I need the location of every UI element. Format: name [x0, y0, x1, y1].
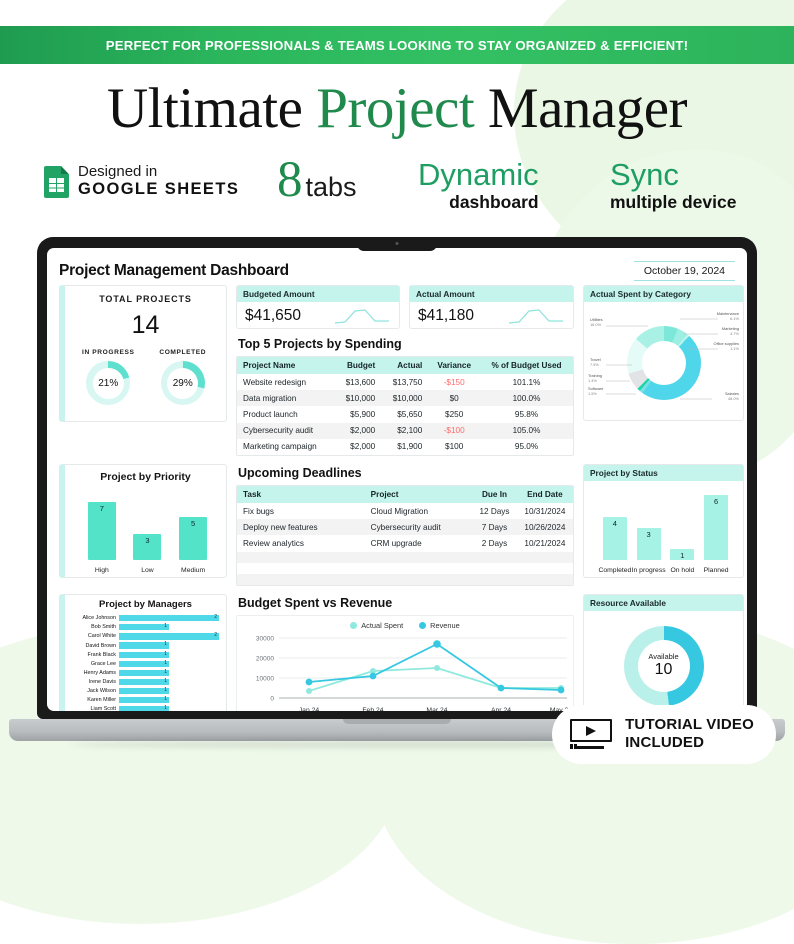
cell-project: Cloud Migration	[365, 503, 473, 519]
feature-tabs-label: tabs	[306, 172, 357, 203]
bar-value: 3	[133, 536, 161, 545]
resource-center: Available 10	[638, 640, 690, 692]
project-by-priority-card: Project by Priority 7 High 3 Lo	[59, 464, 227, 578]
deadlines-title: Upcoming Deadlines	[238, 466, 574, 480]
cell-budget: $2,000	[334, 423, 381, 439]
cell-pct: 100.0%	[480, 390, 573, 406]
tutorial-line-1: TUTORIAL VIDEO	[625, 716, 754, 735]
feature-sheets-line2: GOOGLE SHEETS	[78, 180, 239, 199]
mgr-bar: 1	[119, 706, 169, 711]
cell-end: 10/26/2024	[517, 519, 573, 535]
actual-spent-by-category-card: Actual Spent by Category Utilities16.0% …	[583, 285, 744, 421]
svg-text:10000: 10000	[256, 675, 274, 682]
budget-revenue-title: Budget Spent vs Revenue	[238, 596, 574, 610]
table-row: Cybersecurity audit $2,000 $2,100 -$100 …	[237, 423, 573, 439]
bar-value: 3	[637, 530, 661, 539]
category-chart-header: Actual Spent by Category	[584, 286, 743, 302]
cell-variance: $0	[428, 390, 480, 406]
feature-sync-small: multiple device	[610, 192, 736, 213]
dashboard-col-right-3: Resource Available Available 10	[583, 594, 744, 712]
deadlines-table: Task Project Due In End Date Fix bugs Cl…	[237, 486, 573, 585]
resource-donut-ring: Available 10	[624, 626, 704, 706]
resource-donut-chart: Available 10	[584, 611, 743, 712]
top-projects-table-wrap: Project Name Budget Actual Variance % of…	[236, 356, 574, 456]
list-item: Irene Davis1	[71, 678, 220, 686]
svg-text:30000: 30000	[256, 635, 274, 642]
feature-google-sheets: Designed in GOOGLE SHEETS	[44, 163, 239, 199]
table-row: Product launch $5,900 $5,650 $250 95.8%	[237, 406, 573, 422]
cell-project: Cybersecurity audit	[237, 423, 334, 439]
promo-banner: PERFECT FOR PROFESSIONALS & TEAMS LOOKIN…	[0, 26, 794, 64]
cell-end: 10/31/2024	[517, 503, 573, 519]
dashboard-col-left-2: Project by Priority 7 High 3 Lo	[59, 464, 227, 586]
cell-project: Website redesign	[237, 374, 334, 390]
play-video-icon	[570, 719, 612, 749]
top-projects-table: Project Name Budget Actual Variance % of…	[237, 357, 573, 455]
col-budget-used: % of Budget Used	[480, 357, 573, 374]
project-by-managers-card: Project by Managers Alice Johnson2 Bob S…	[59, 594, 227, 712]
deadlines-body: Fix bugs Cloud Migration 12 Days 10/31/2…	[237, 503, 573, 585]
bar-label: High	[78, 567, 126, 574]
total-projects-card: TOTAL PROJECTS 14 IN PROGRESS 21%	[59, 285, 227, 422]
dashboard-row-3: Project by Managers Alice Johnson2 Bob S…	[59, 594, 735, 712]
tutorial-video-badge: TUTORIAL VIDEO INCLUDED	[552, 705, 776, 765]
dashboard-col-right-1: Actual Spent by Category Utilities16.0% …	[583, 285, 744, 456]
table-row: Deploy new features Cybersecurity audit …	[237, 519, 573, 535]
mgr-bar: 1	[119, 661, 169, 667]
cell-budget: $2,000	[334, 439, 381, 455]
table-row: Marketing campaign $2,000 $1,900 $100 95…	[237, 439, 573, 455]
cell-budget: $13,600	[334, 374, 381, 390]
cell-project: Data migration	[237, 390, 334, 406]
dashboard-col-mid-3: Budget Spent vs Revenue Actual Spent Rev…	[236, 594, 574, 712]
cell-variance: -$100	[428, 423, 480, 439]
bar-on-hold: 1 On hold	[670, 549, 694, 560]
cell-pct: 101.1%	[480, 374, 573, 390]
feature-tabs-number: 8	[277, 155, 303, 206]
list-item: Bob Smith1	[71, 624, 220, 632]
mgr-bar: 1	[119, 688, 169, 694]
cell-end: 10/21/2024	[517, 535, 573, 551]
cell-actual: $5,650	[381, 406, 428, 422]
table-row: Fix bugs Cloud Migration 12 Days 10/31/2…	[237, 503, 573, 519]
cell-pct: 95.0%	[480, 439, 573, 455]
mgr-bar: 1	[119, 624, 169, 630]
bar-label: Low	[123, 567, 171, 574]
mgr-bar: 1	[119, 642, 169, 648]
cell-actual: $2,100	[381, 423, 428, 439]
status-bar-chart: 4 Completed 3 In progress 1	[584, 481, 743, 577]
in-progress-metric: IN PROGRESS 21%	[77, 349, 139, 405]
bar-value: 6	[704, 497, 728, 506]
completed-metric: COMPLETED 29%	[152, 349, 214, 405]
table-row: Review analytics CRM upgrade 2 Days 10/2…	[237, 535, 573, 551]
col-due-in: Due In	[472, 486, 517, 503]
legend-swatch	[350, 622, 357, 629]
hero-word-3: Manager	[474, 77, 687, 140]
kpi-budgeted-amount: Budgeted Amount $41,650	[236, 285, 400, 329]
dashboard-col-left-3: Project by Managers Alice Johnson2 Bob S…	[59, 594, 227, 712]
google-sheets-icon	[44, 166, 69, 198]
dashboard-col-right-2: Project by Status 4 Completed 3	[583, 464, 744, 586]
bar-label: Planned	[694, 567, 738, 574]
hero-heading: Ultimate Project Manager	[0, 72, 794, 144]
status-chart-header: Project by Status	[584, 465, 743, 481]
total-projects-label: TOTAL PROJECTS	[71, 294, 220, 304]
promo-banner-text: PERFECT FOR PROFESSIONALS & TEAMS LOOKIN…	[106, 38, 688, 53]
dashboard: Project Management Dashboard October 19,…	[47, 248, 747, 711]
cell-actual: $1,900	[381, 439, 428, 455]
completed-value: 29%	[167, 368, 198, 399]
cell-project: Cybersecurity audit	[365, 519, 473, 535]
feature-dynamic-big: Dynamic	[418, 159, 539, 192]
feature-dynamic-small: dashboard	[449, 192, 538, 213]
list-item: Jack Wilson1	[71, 687, 220, 695]
dashboard-header: Project Management Dashboard October 19,…	[59, 257, 735, 285]
dashboard-col-mid-1: Budgeted Amount $41,650 Actual Amount	[236, 285, 574, 456]
feature-sync-big: Sync	[610, 159, 679, 192]
cell-budget: $10,000	[334, 390, 381, 406]
bar-in-progress: 3 In progress	[637, 528, 661, 560]
total-projects-value: 14	[71, 311, 220, 340]
cell-project: CRM upgrade	[365, 535, 473, 551]
svg-text:Jan 24: Jan 24	[299, 707, 320, 712]
resource-header: Resource Available	[584, 595, 743, 611]
dashboard-col-mid-2: Upcoming Deadlines Task Project Due In E…	[236, 464, 574, 586]
table-header-row: Task Project Due In End Date	[237, 486, 573, 503]
mgr-bar: 2	[119, 633, 219, 639]
line-chart-plot: 30000 20000 10000 0 Jan 24 Feb 24 Mar 24	[237, 630, 575, 712]
deadlines-table-wrap: Task Project Due In End Date Fix bugs Cl…	[236, 485, 574, 586]
bar-value: 4	[603, 519, 627, 528]
feature-sheets-line1: Designed in	[78, 163, 239, 180]
page-title: Project Management Dashboard	[59, 262, 289, 280]
kpi-actual-value: $41,180	[418, 307, 474, 325]
kpi-actual-sparkline	[507, 306, 565, 326]
in-progress-label: IN PROGRESS	[77, 349, 139, 356]
kpi-budgeted-sparkline	[333, 306, 391, 326]
col-actual: Actual	[381, 357, 428, 374]
top-projects-body: Website redesign $13,600 $13,750 -$150 1…	[237, 374, 573, 455]
managers-bar-chart: Alice Johnson2 Bob Smith1 Carol White2 D…	[65, 612, 226, 712]
feature-sync: Sync multiple device	[610, 159, 736, 213]
cell-due: 2 Days	[472, 535, 517, 551]
cell-due: 12 Days	[472, 503, 517, 519]
cell-variance: -$150	[428, 374, 480, 390]
bar-value: 1	[670, 551, 694, 560]
kpi-actual-header: Actual Amount	[410, 286, 573, 302]
resource-caption: Available	[648, 652, 678, 661]
legend-revenue: Revenue	[419, 621, 460, 630]
resource-value: 10	[655, 661, 673, 679]
cell-project: Product launch	[237, 406, 334, 422]
svg-text:0: 0	[270, 695, 274, 702]
kpi-budgeted-value: $41,650	[245, 307, 301, 325]
table-row-empty	[237, 563, 573, 574]
table-row: Website redesign $13,600 $13,750 -$150 1…	[237, 374, 573, 390]
svg-text:20000: 20000	[256, 655, 274, 662]
svg-text:Apr 24: Apr 24	[491, 707, 511, 712]
cell-actual: $10,000	[381, 390, 428, 406]
svg-text:Mar 24: Mar 24	[426, 707, 447, 712]
category-leader-lines	[584, 302, 743, 420]
in-progress-gauge: 21%	[86, 361, 130, 405]
col-task: Task	[237, 486, 365, 503]
dashboard-row-2: Project by Priority 7 High 3 Lo	[59, 464, 735, 586]
mgr-bar: 1	[119, 679, 169, 685]
priority-bar-chart: 7 High 3 Low 5 Medium	[65, 485, 226, 577]
col-project: Project	[365, 486, 473, 503]
tutorial-line-2: INCLUDED	[625, 734, 754, 753]
completed-label: COMPLETED	[152, 349, 214, 356]
dashboard-date: October 19, 2024	[634, 261, 735, 281]
legend-actual-spent: Actual Spent	[350, 621, 403, 630]
cell-task: Review analytics	[237, 535, 365, 551]
feature-tabs: 8 tabs	[277, 155, 357, 206]
bar-completed: 4 Completed	[603, 517, 627, 560]
completed-gauge: 29%	[161, 361, 205, 405]
bar-value: 5	[179, 519, 207, 528]
svg-text:Feb 24: Feb 24	[362, 707, 383, 712]
list-item: Henry Adams1	[71, 669, 220, 677]
cell-due: 7 Days	[472, 519, 517, 535]
dashboard-col-left-1: TOTAL PROJECTS 14 IN PROGRESS 21%	[59, 285, 227, 456]
bar-label: Medium	[169, 567, 217, 574]
mgr-bar: 2	[119, 615, 219, 621]
feature-row: Designed in GOOGLE SHEETS 8 tabs Dynamic…	[0, 155, 794, 225]
bar-planned: 6 Planned	[704, 495, 728, 560]
top-projects-title: Top 5 Projects by Spending	[238, 337, 574, 351]
budget-vs-revenue-chart: Actual Spent Revenue	[236, 615, 574, 712]
bar-high: 7 High	[88, 502, 116, 560]
hero-word-2: Project	[316, 77, 474, 140]
dashboard-row-1: TOTAL PROJECTS 14 IN PROGRESS 21%	[59, 285, 735, 456]
table-row-empty	[237, 552, 573, 563]
list-item: Carol White2	[71, 633, 220, 641]
cell-budget: $5,900	[334, 406, 381, 422]
bar-value: 7	[88, 504, 116, 513]
project-by-status-card: Project by Status 4 Completed 3	[583, 464, 744, 578]
line-chart-legend: Actual Spent Revenue	[237, 616, 573, 630]
col-end-date: End Date	[517, 486, 573, 503]
cell-pct: 95.8%	[480, 406, 573, 422]
mgr-bar: 1	[119, 697, 169, 703]
list-item: David Brown1	[71, 642, 220, 650]
laptop-mockup: Project Management Dashboard October 19,…	[9, 237, 785, 757]
tutorial-video-text: TUTORIAL VIDEO INCLUDED	[625, 716, 754, 754]
feature-dynamic: Dynamic dashboard	[418, 159, 539, 213]
cell-variance: $100	[428, 439, 480, 455]
cell-task: Fix bugs	[237, 503, 365, 519]
table-row-empty	[237, 574, 573, 585]
in-progress-value: 21%	[93, 368, 124, 399]
table-row: Data migration $10,000 $10,000 $0 100.0%	[237, 390, 573, 406]
mgr-bar: 1	[119, 670, 169, 676]
list-item: Grace Lee1	[71, 660, 220, 668]
laptop-notch	[357, 237, 437, 251]
laptop-lid: Project Management Dashboard October 19,…	[37, 237, 757, 719]
kpi-actual-amount: Actual Amount $41,180	[409, 285, 574, 329]
priority-chart-title: Project by Priority	[65, 465, 226, 485]
cell-variance: $250	[428, 406, 480, 422]
laptop-screen: Project Management Dashboard October 19,…	[47, 248, 747, 711]
hero-word-1: Ultimate	[107, 77, 316, 140]
cell-pct: 105.0%	[480, 423, 573, 439]
list-item: Karen Miller1	[71, 696, 220, 704]
cell-project: Marketing campaign	[237, 439, 334, 455]
managers-chart-title: Project by Managers	[65, 595, 226, 612]
cell-actual: $13,750	[381, 374, 428, 390]
resource-available-card: Resource Available Available 10	[583, 594, 744, 712]
list-item: Liam Scott1	[71, 705, 220, 711]
list-item: Alice Johnson2	[71, 615, 220, 623]
hero-title: Ultimate Project Manager	[107, 80, 687, 137]
legend-swatch	[419, 622, 426, 629]
bar-low: 3 Low	[133, 534, 161, 560]
col-project-name: Project Name	[237, 357, 334, 374]
kpi-budgeted-header: Budgeted Amount	[237, 286, 399, 302]
col-variance: Variance	[428, 357, 480, 374]
mgr-bar: 1	[119, 652, 169, 658]
list-item: Frank Black1	[71, 651, 220, 659]
cell-task: Deploy new features	[237, 519, 365, 535]
category-donut-chart: Utilities16.0% Travel7.5% Training1.4% S…	[584, 302, 743, 420]
col-budget: Budget	[334, 357, 381, 374]
bar-medium: 5 Medium	[179, 517, 207, 560]
table-header-row: Project Name Budget Actual Variance % of…	[237, 357, 573, 374]
